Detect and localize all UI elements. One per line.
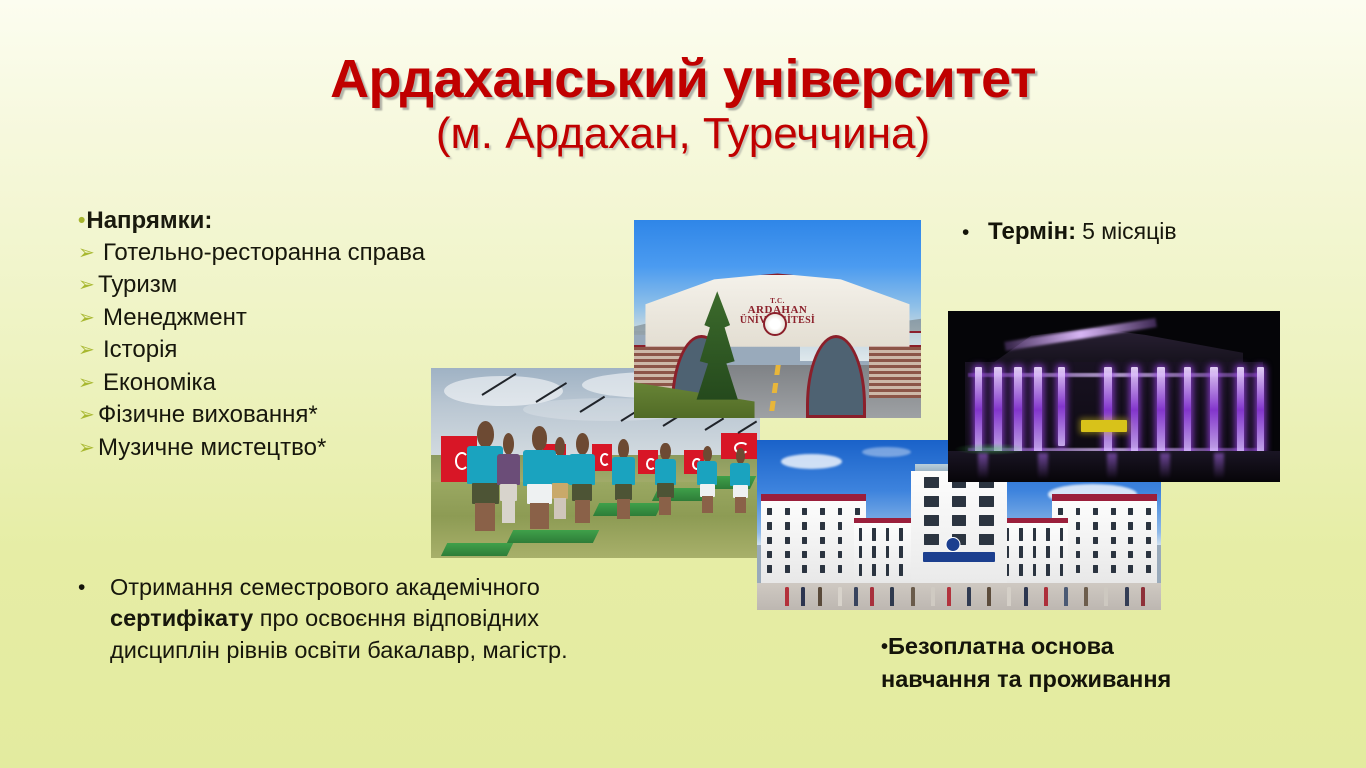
list-item: ➢ Готельно-ресторанна справа — [78, 237, 548, 270]
spectator-legs — [502, 500, 515, 523]
free-basis-line-1: Безоплатна основа — [888, 633, 1114, 659]
light-pillar — [1014, 367, 1022, 453]
photo-night-building — [948, 311, 1280, 482]
directions-heading: •Напрямки: — [78, 205, 548, 237]
golfer-legs — [575, 500, 590, 523]
light-pillar — [994, 367, 1002, 453]
round-bullet-icon: • — [881, 636, 888, 658]
chevron-right-icon: ➢ — [78, 340, 98, 360]
certificate-text: Отримання семестрового академічного серт… — [110, 572, 612, 666]
golfer-legs — [530, 503, 548, 529]
light-reflection — [1038, 453, 1048, 479]
golfer-figure — [697, 461, 717, 512]
term-value: 5 місяців — [1082, 218, 1177, 245]
person-figure — [1084, 587, 1088, 606]
light-pillar — [1131, 367, 1139, 453]
light-pillar — [1210, 367, 1218, 453]
spectator-figure — [549, 455, 570, 518]
list-item-label: Економіка — [98, 367, 216, 400]
person-figure — [987, 587, 991, 606]
light-pillar — [1257, 367, 1265, 453]
person-figure — [967, 587, 971, 606]
person-figure — [870, 587, 874, 606]
chevron-right-icon: ➢ — [78, 373, 98, 393]
golf-mat — [441, 543, 513, 556]
page-title: Ардаханський університет (м. Ардахан, Ту… — [0, 52, 1366, 156]
person-figure — [1044, 587, 1048, 606]
photo-university-gate: T.C. ARDAHAN ÜNİVERSİTESİ — [634, 220, 921, 418]
light-pillar — [1184, 367, 1192, 453]
golfer-shirt — [655, 459, 676, 484]
spectator-trousers — [552, 483, 568, 499]
person-figure — [1104, 587, 1108, 606]
golfer-legs — [617, 499, 630, 520]
term-line: • Термін: 5 місяців — [962, 218, 1177, 246]
golfer-shirt — [569, 454, 595, 485]
golfer-figure — [655, 459, 676, 514]
light-reflection — [1160, 453, 1170, 479]
golfer-legs — [475, 503, 495, 531]
golf-mat — [507, 530, 599, 543]
person-figure — [838, 587, 842, 606]
round-bullet-icon: • — [72, 572, 110, 666]
person-figure — [931, 587, 935, 606]
golfer-shorts — [527, 484, 552, 504]
list-item-label: Готельно-ресторанна справа — [98, 237, 425, 270]
spectator-shirt — [497, 454, 520, 485]
university-seal-icon — [763, 312, 787, 336]
golfer-legs — [735, 497, 746, 514]
directions-heading-label: Напрямки: — [86, 207, 212, 234]
wing-left — [761, 501, 866, 586]
chevron-right-icon: ➢ — [78, 405, 98, 425]
spectator-figure — [497, 454, 520, 522]
free-basis-line-2: навчання та проживання — [881, 666, 1171, 692]
golfer-head — [736, 448, 745, 464]
light-pillar — [1237, 367, 1245, 453]
light-reflection — [1107, 453, 1117, 479]
light-pillar — [1034, 367, 1042, 453]
list-item-label: Фізичне виховання* — [98, 399, 318, 432]
certificate-text-bold: сертифікату — [110, 605, 253, 631]
person-figure — [911, 587, 915, 606]
chevron-right-icon: ➢ — [78, 243, 98, 263]
light-pillar — [1058, 367, 1066, 446]
light-reflection — [1214, 453, 1224, 479]
list-item-label: Туризм — [98, 269, 177, 302]
person-figure — [1007, 587, 1011, 606]
person-figure — [801, 587, 805, 606]
light-pillar — [1104, 367, 1112, 453]
golfer-shorts — [572, 484, 592, 502]
building-sign — [1081, 420, 1127, 432]
golfer-legs — [702, 496, 713, 513]
chevron-right-icon: ➢ — [78, 438, 98, 458]
list-item: ➢ Туризм — [78, 269, 548, 302]
entrance-banner — [923, 552, 996, 562]
university-seal-icon — [945, 537, 960, 552]
spectator-legs — [554, 498, 566, 519]
person-figure — [947, 587, 951, 606]
golfer-shorts — [472, 483, 500, 505]
golfer-head — [477, 421, 494, 448]
person-figure — [854, 587, 858, 606]
spectator-head — [555, 437, 565, 457]
lit-lawn — [955, 443, 1028, 455]
stone-wall-right — [869, 345, 921, 398]
person-figure — [1064, 587, 1068, 606]
list-item-label: Менеджмент — [98, 302, 247, 335]
spectator-head — [503, 433, 514, 455]
person-figure — [1024, 587, 1028, 606]
cloud-shape — [862, 447, 910, 457]
window-grid — [1058, 508, 1150, 573]
golfer-shorts — [615, 484, 632, 500]
light-reflection — [978, 453, 988, 479]
list-item-label: Історія — [98, 334, 177, 367]
golfer-head — [576, 433, 589, 455]
golfer-shirt — [612, 457, 635, 485]
golfer-shirt — [697, 461, 717, 485]
golfer-figure — [569, 454, 595, 522]
golfer-figure — [612, 457, 635, 518]
person-figure — [785, 587, 789, 606]
free-basis-text: •Безоплатна основа навчання та проживанн… — [881, 630, 1281, 697]
round-bullet-icon: • — [962, 221, 988, 245]
term-label: Термін: — [988, 218, 1082, 246]
golfer-shirt — [730, 463, 750, 486]
light-pillar — [975, 367, 983, 453]
person-figure — [1141, 587, 1145, 606]
title-line-1: Ардаханський університет — [0, 52, 1366, 106]
spectator-shirt — [549, 455, 570, 484]
golfer-legs — [659, 497, 671, 516]
person-figure — [890, 587, 894, 606]
window-grid — [924, 477, 994, 544]
slide-canvas: Ардаханський університет (м. Ардахан, Ту… — [0, 0, 1366, 768]
certificate-paragraph: • Отримання семестрового академічного се… — [72, 572, 612, 666]
golfer-head — [703, 446, 712, 462]
spectator-trousers — [500, 484, 517, 502]
list-item: ➢ Менеджмент — [78, 302, 548, 335]
window-grid — [767, 508, 859, 573]
list-item-label: Музичне мистецтво* — [98, 432, 326, 465]
golfer-shorts — [657, 483, 673, 497]
cloud-shape — [781, 454, 842, 469]
golfer-head — [618, 439, 629, 458]
golfer-head — [660, 443, 670, 461]
chevron-right-icon: ➢ — [78, 275, 98, 295]
person-figure — [1125, 587, 1129, 606]
certificate-text-part1: Отримання семестрового академічного — [110, 574, 540, 600]
central-tower — [911, 471, 1008, 583]
person-figure — [818, 587, 822, 606]
golfer-figure — [730, 463, 750, 512]
chevron-right-icon: ➢ — [78, 308, 98, 328]
light-pillar — [1157, 367, 1165, 453]
list-item: ➢ Історія — [78, 334, 548, 367]
title-line-2: (м. Ардахан, Туреччина) — [0, 112, 1366, 156]
